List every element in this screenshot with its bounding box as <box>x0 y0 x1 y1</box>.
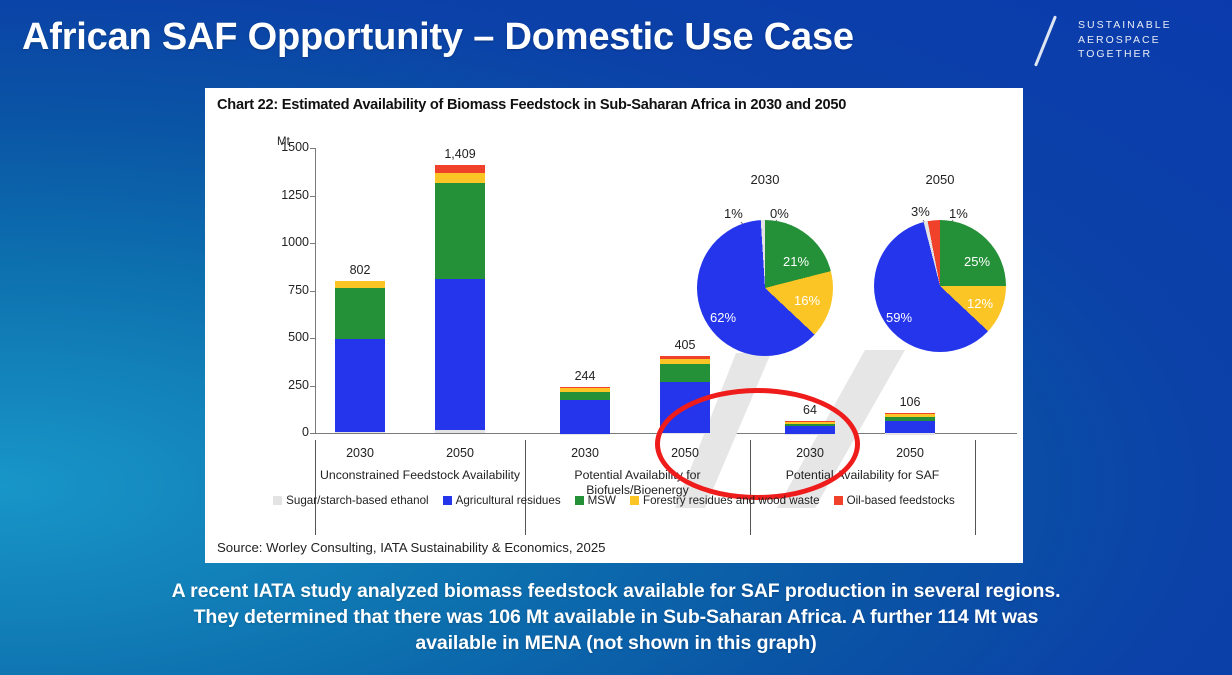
bar-segment-msw <box>660 364 710 381</box>
saf-highlight-ellipse <box>655 388 860 500</box>
y-axis-tick-label: 1500 <box>261 140 309 154</box>
logo-slash-icon <box>1034 15 1057 66</box>
category-separator <box>525 440 526 535</box>
bar-segment-agricultural-residues <box>435 279 485 430</box>
pie-slice-label: 59% <box>886 310 912 325</box>
chart-legend: Sugar/starch-based ethanolAgricultural r… <box>205 491 1023 509</box>
legend-swatch <box>575 496 584 505</box>
bar-total-label: 1,409 <box>420 147 500 161</box>
legend-swatch <box>273 496 282 505</box>
category-year-label: 2030 <box>545 446 625 460</box>
chart-panel: Chart 22: Estimated Availability of Biom… <box>205 88 1023 563</box>
bar-stack[interactable] <box>335 281 385 434</box>
legend-item[interactable]: Agricultural residues <box>443 494 561 507</box>
pie-slice-label: 1% <box>949 206 968 221</box>
legend-label: Agricultural residues <box>456 494 561 507</box>
caption-line-3: available in MENA (not shown in this gra… <box>40 630 1192 656</box>
logo-line-2: AEROSPACE <box>1078 33 1172 48</box>
bar-segment-msw <box>435 183 485 279</box>
category-year-label: 2050 <box>420 446 500 460</box>
page-title: African SAF Opportunity – Domestic Use C… <box>22 16 854 59</box>
category-group-label: Unconstrained Feedstock Availability <box>319 468 521 483</box>
legend-item[interactable]: Forestry residues and wood waste <box>630 494 820 507</box>
bar-total-label: 106 <box>870 395 950 409</box>
pie-slice-label: 1% <box>724 206 743 221</box>
y-axis-tick-label: 500 <box>261 330 309 344</box>
logo-line-3: TOGETHER <box>1078 47 1172 62</box>
caption-line-1: A recent IATA study analyzed biomass fee… <box>40 578 1192 604</box>
legend-swatch <box>443 496 452 505</box>
caption-line-2: They determined that there was 106 Mt av… <box>40 604 1192 630</box>
y-axis-tick-mark <box>310 148 315 149</box>
y-axis-tick-mark <box>310 338 315 339</box>
sustainable-aerospace-together-logo: SUSTAINABLE AEROSPACE TOGETHER <box>1034 12 1194 68</box>
bar-segment-msw <box>335 288 385 339</box>
pie-chart-2030[interactable] <box>697 220 833 356</box>
legend-swatch <box>630 496 639 505</box>
bar-segment-agricultural-residues <box>335 339 385 433</box>
legend-label: Forestry residues and wood waste <box>643 494 820 507</box>
y-axis-tick-label: 750 <box>261 283 309 297</box>
pie-slice-label: 25% <box>964 254 990 269</box>
bar-total-label: 405 <box>645 338 725 352</box>
bar-stack[interactable] <box>435 165 485 433</box>
bar-segment-oil-based-feedstocks <box>435 165 485 172</box>
bar-segment-msw <box>560 392 610 400</box>
legend-item[interactable]: Oil-based feedstocks <box>834 494 955 507</box>
bar-segment-agricultural-residues <box>885 421 935 433</box>
pie-slice-label: 3% <box>911 204 930 219</box>
logo-line-1: SUSTAINABLE <box>1078 18 1172 33</box>
legend-swatch <box>834 496 843 505</box>
pie-title-2050: 2050 <box>905 172 975 187</box>
pie-slice-label: 21% <box>783 254 809 269</box>
pie-slice-label: 16% <box>794 293 820 308</box>
y-axis-tick-label: 1000 <box>261 235 309 249</box>
y-axis-tick-mark <box>310 196 315 197</box>
y-axis-tick-mark <box>310 433 315 434</box>
pie-slice-label: 62% <box>710 310 736 325</box>
pie-chart-2050[interactable] <box>874 220 1006 352</box>
pie-title-2030: 2030 <box>730 172 800 187</box>
legend-label: Sugar/starch-based ethanol <box>286 494 428 507</box>
category-year-label: 2050 <box>870 446 950 460</box>
y-axis-tick-mark <box>310 386 315 387</box>
category-separator <box>315 440 316 535</box>
bar-segment-agricultural-residues <box>560 400 610 434</box>
legend-item[interactable]: MSW <box>575 494 616 507</box>
bar-segment-sugar-starch-based-ethanol <box>885 433 935 434</box>
bar-segment-forestry-residues-and-wood-waste <box>435 173 485 184</box>
y-axis-tick-label: 0 <box>261 425 309 439</box>
category-year-label: 2030 <box>320 446 400 460</box>
bar-segment-sugar-starch-based-ethanol <box>435 430 485 433</box>
y-axis-tick-mark <box>310 291 315 292</box>
bar-total-label: 802 <box>320 263 400 277</box>
category-separator <box>975 440 976 535</box>
legend-label: Oil-based feedstocks <box>847 494 955 507</box>
pie-slice-label: 12% <box>967 296 993 311</box>
legend-label: MSW <box>588 494 616 507</box>
slide: African SAF Opportunity – Domestic Use C… <box>0 0 1232 675</box>
pie-slice-label: 0% <box>770 206 789 221</box>
y-axis-tick-label: 1250 <box>261 188 309 202</box>
logo-text: SUSTAINABLE AEROSPACE TOGETHER <box>1078 18 1172 62</box>
bar-segment-sugar-starch-based-ethanol <box>560 434 610 435</box>
bar-stack[interactable] <box>885 413 935 435</box>
bar-total-label: 244 <box>545 369 625 383</box>
slide-caption: A recent IATA study analyzed biomass fee… <box>40 578 1192 656</box>
bar-segment-forestry-residues-and-wood-waste <box>335 281 385 288</box>
legend-item[interactable]: Sugar/starch-based ethanol <box>273 494 428 507</box>
bar-stack[interactable] <box>560 387 610 435</box>
y-axis-tick-mark <box>310 243 315 244</box>
bar-segment-sugar-starch-based-ethanol <box>335 432 385 433</box>
y-axis-tick-label: 250 <box>261 378 309 392</box>
